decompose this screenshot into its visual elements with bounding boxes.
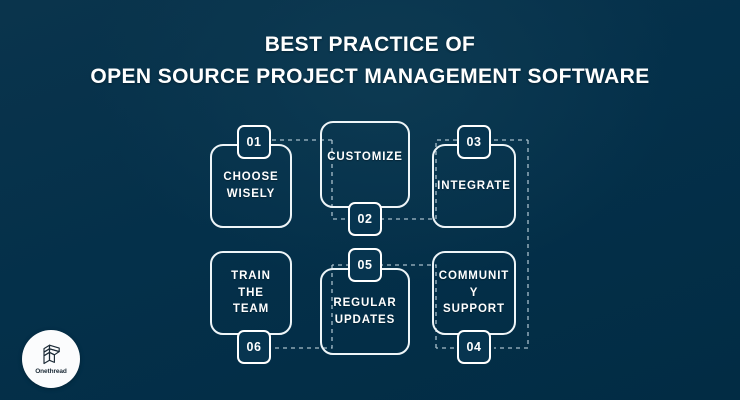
step-label-choose-wisely: CHOOSE WISELY (216, 169, 285, 202)
step-badge-03[interactable]: 03 (457, 125, 491, 159)
step-label-line2: TEAM (233, 303, 269, 315)
step-label-line1: CUSTOMIZE (327, 151, 403, 163)
step-badge-01-text: 01 (247, 135, 262, 149)
step-label-integrate: INTEGRATE (430, 178, 518, 195)
step-label-community-support: COMMUNIT Y SUPPORT (432, 268, 516, 318)
step-label-line1: REGULAR (333, 297, 396, 309)
step-label-line1: TRAIN THE (231, 270, 271, 299)
brand-logo[interactable]: Onethread (22, 330, 80, 388)
step-badge-06-text: 06 (247, 340, 262, 354)
step-label-customize: CUSTOMIZE (320, 149, 410, 166)
step-label-train-the-team: TRAIN THE TEAM (212, 268, 290, 318)
step-label-line1: COMMUNIT (439, 270, 509, 282)
step-label-line1: CHOOSE (223, 171, 278, 183)
step-node-community-support[interactable]: COMMUNIT Y SUPPORT (432, 251, 516, 335)
step-badge-02[interactable]: 02 (348, 202, 382, 236)
step-label-line2: WISELY (227, 188, 275, 200)
step-badge-05-text: 05 (358, 258, 373, 272)
step-label-line1: INTEGRATE (437, 180, 511, 192)
step-badge-06[interactable]: 06 (237, 330, 271, 364)
step-label-regular-updates: REGULAR UPDATES (326, 295, 403, 328)
step-node-customize[interactable]: CUSTOMIZE (320, 121, 410, 208)
step-badge-04[interactable]: 04 (457, 330, 491, 364)
step-badge-04-text: 04 (467, 340, 482, 354)
infographic-canvas: BEST PRACTICE OF OPEN SOURCE PROJECT MAN… (0, 0, 740, 400)
step-badge-02-text: 02 (358, 212, 373, 226)
step-badge-01[interactable]: 01 (237, 125, 271, 159)
step-badge-05[interactable]: 05 (348, 248, 382, 282)
isometric-cube-icon (38, 343, 64, 367)
step-label-line2: Y SUPPORT (443, 287, 505, 316)
step-node-train-the-team[interactable]: TRAIN THE TEAM (210, 251, 292, 335)
process-diagram: CHOOSE WISELY 01 CUSTOMIZE 02 INTEGRATE … (0, 0, 740, 400)
brand-name: Onethread (35, 368, 67, 375)
step-label-line2: UPDATES (335, 314, 395, 326)
step-badge-03-text: 03 (467, 135, 482, 149)
